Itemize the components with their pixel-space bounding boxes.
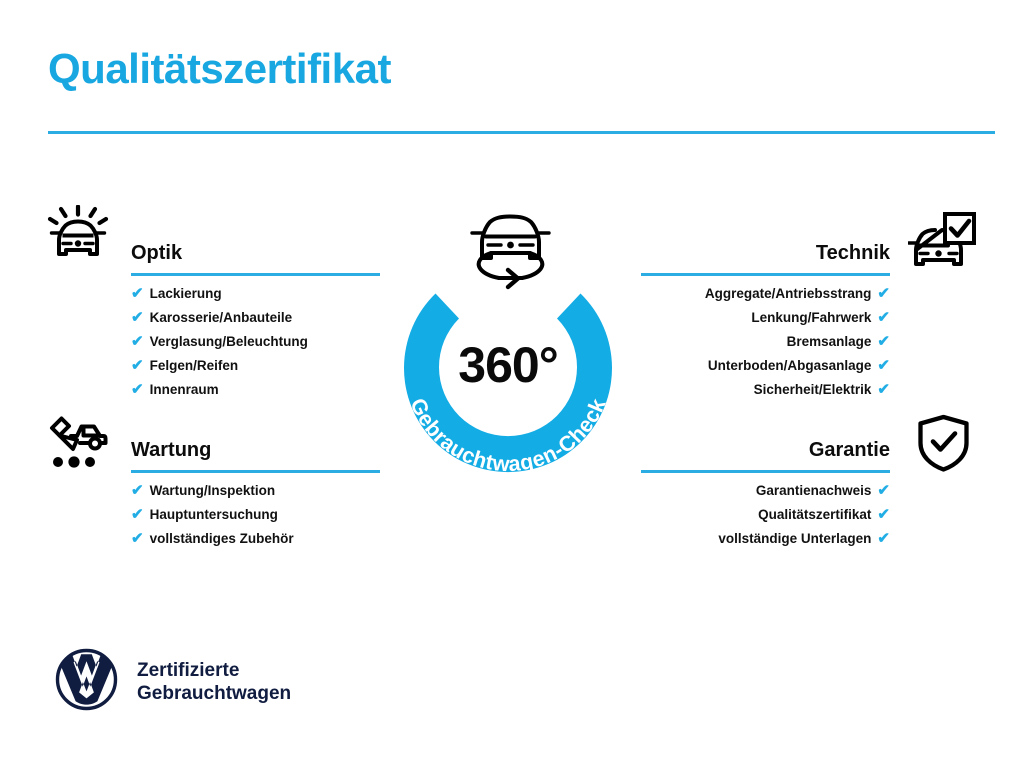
badge-360-check: Gebrauchtwagen-Check 360° xyxy=(378,252,638,482)
section-garantie-divider xyxy=(641,470,890,473)
check-icon: ✔ xyxy=(131,527,144,551)
check-icon: ✔ xyxy=(131,330,144,354)
badge-value: 360° xyxy=(378,340,638,390)
list-item: Bremsanlage✔ xyxy=(641,330,890,354)
section-technik-title: Technik xyxy=(641,238,890,268)
list-item: ✔Hauptuntersuchung xyxy=(131,503,380,527)
section-garantie-header: Garantie xyxy=(641,435,890,479)
vw-wordmark-line2: Gebrauchtwagen xyxy=(137,682,291,705)
section-wartung: Wartung ✔Wartung/Inspektion✔Hauptuntersu… xyxy=(131,435,380,551)
list-item-label: vollständige Unterlagen xyxy=(718,527,871,551)
section-garantie-title: Garantie xyxy=(641,435,890,465)
check-icon: ✔ xyxy=(877,330,890,354)
list-item-label: Hauptuntersuchung xyxy=(150,503,278,527)
car-front-lights-icon xyxy=(47,205,109,272)
section-optik-divider xyxy=(131,273,380,276)
list-item-label: Wartung/Inspektion xyxy=(150,479,276,503)
section-technik: Technik Aggregate/Antriebsstrang✔Lenkung… xyxy=(641,238,890,402)
section-optik-list: ✔Lackierung✔Karosserie/Anbauteile✔Vergla… xyxy=(131,282,380,402)
section-wartung-title: Wartung xyxy=(131,435,380,465)
list-item-label: Garantienachweis xyxy=(756,479,872,503)
list-item-label: vollständiges Zubehör xyxy=(150,527,294,551)
section-garantie-list: Garantienachweis✔Qualitätszertifikat✔vol… xyxy=(641,479,890,551)
list-item-label: Qualitätszertifikat xyxy=(758,503,871,527)
vw-wordmark: Zertifizierte Gebrauchtwagen xyxy=(137,659,291,705)
check-icon: ✔ xyxy=(877,479,890,503)
list-item: Garantienachweis✔ xyxy=(641,479,890,503)
list-item-label: Unterboden/Abgasanlage xyxy=(708,354,872,378)
list-item: Lenkung/Fahrwerk✔ xyxy=(641,306,890,330)
section-technik-divider xyxy=(641,273,890,276)
section-wartung-header: Wartung xyxy=(131,435,380,479)
list-item: vollständige Unterlagen✔ xyxy=(641,527,890,551)
check-icon: ✔ xyxy=(877,527,890,551)
list-item: ✔Felgen/Reifen xyxy=(131,354,380,378)
section-wartung-list: ✔Wartung/Inspektion✔Hauptuntersuchung✔vo… xyxy=(131,479,380,551)
check-icon: ✔ xyxy=(877,354,890,378)
section-technik-list: Aggregate/Antriebsstrang✔Lenkung/Fahrwer… xyxy=(641,282,890,402)
check-icon: ✔ xyxy=(131,354,144,378)
list-item-label: Sicherheit/Elektrik xyxy=(754,378,872,402)
check-icon: ✔ xyxy=(877,282,890,306)
check-icon: ✔ xyxy=(131,306,144,330)
header-divider xyxy=(48,131,995,134)
check-icon: ✔ xyxy=(131,479,144,503)
list-item: Qualitätszertifikat✔ xyxy=(641,503,890,527)
page-title: Qualitätszertifikat xyxy=(48,48,391,90)
check-icon: ✔ xyxy=(877,503,890,527)
vw-brand-lockup: Zertifizierte Gebrauchtwagen xyxy=(55,648,291,716)
list-item: Unterboden/Abgasanlage✔ xyxy=(641,354,890,378)
list-item-label: Innenraum xyxy=(150,378,219,402)
list-item: ✔Lackierung xyxy=(131,282,380,306)
section-optik: Optik ✔Lackierung✔Karosserie/Anbauteile✔… xyxy=(131,238,380,402)
section-technik-header: Technik xyxy=(641,238,890,282)
section-wartung-divider xyxy=(131,470,380,473)
section-optik-title: Optik xyxy=(131,238,380,268)
vw-wordmark-line1: Zertifizierte xyxy=(137,659,291,682)
section-optik-header: Optik xyxy=(131,238,380,282)
list-item-label: Lenkung/Fahrwerk xyxy=(751,306,871,330)
vw-logo-icon xyxy=(55,648,118,716)
car-checkbox-icon xyxy=(908,212,976,277)
check-icon: ✔ xyxy=(877,306,890,330)
list-item: ✔Karosserie/Anbauteile xyxy=(131,306,380,330)
list-item: ✔Innenraum xyxy=(131,378,380,402)
check-icon: ✔ xyxy=(131,282,144,306)
list-item: ✔Wartung/Inspektion xyxy=(131,479,380,503)
list-item-label: Bremsanlage xyxy=(787,330,872,354)
car-rotate-icon xyxy=(458,200,563,300)
list-item-label: Lackierung xyxy=(150,282,222,306)
list-item: Sicherheit/Elektrik✔ xyxy=(641,378,890,402)
check-icon: ✔ xyxy=(131,378,144,402)
check-icon: ✔ xyxy=(877,378,890,402)
check-icon: ✔ xyxy=(131,503,144,527)
car-service-pencil-icon xyxy=(47,414,109,475)
list-item-label: Verglasung/Beleuchtung xyxy=(150,330,308,354)
list-item-label: Aggregate/Antriebsstrang xyxy=(705,282,872,306)
list-item: Aggregate/Antriebsstrang✔ xyxy=(641,282,890,306)
list-item: ✔Verglasung/Beleuchtung xyxy=(131,330,380,354)
list-item: ✔vollständiges Zubehör xyxy=(131,527,380,551)
list-item-label: Karosserie/Anbauteile xyxy=(150,306,293,330)
list-item-label: Felgen/Reifen xyxy=(150,354,239,378)
section-garantie: Garantie Garantienachweis✔Qualitätszerti… xyxy=(641,435,890,551)
shield-check-icon xyxy=(916,414,971,477)
